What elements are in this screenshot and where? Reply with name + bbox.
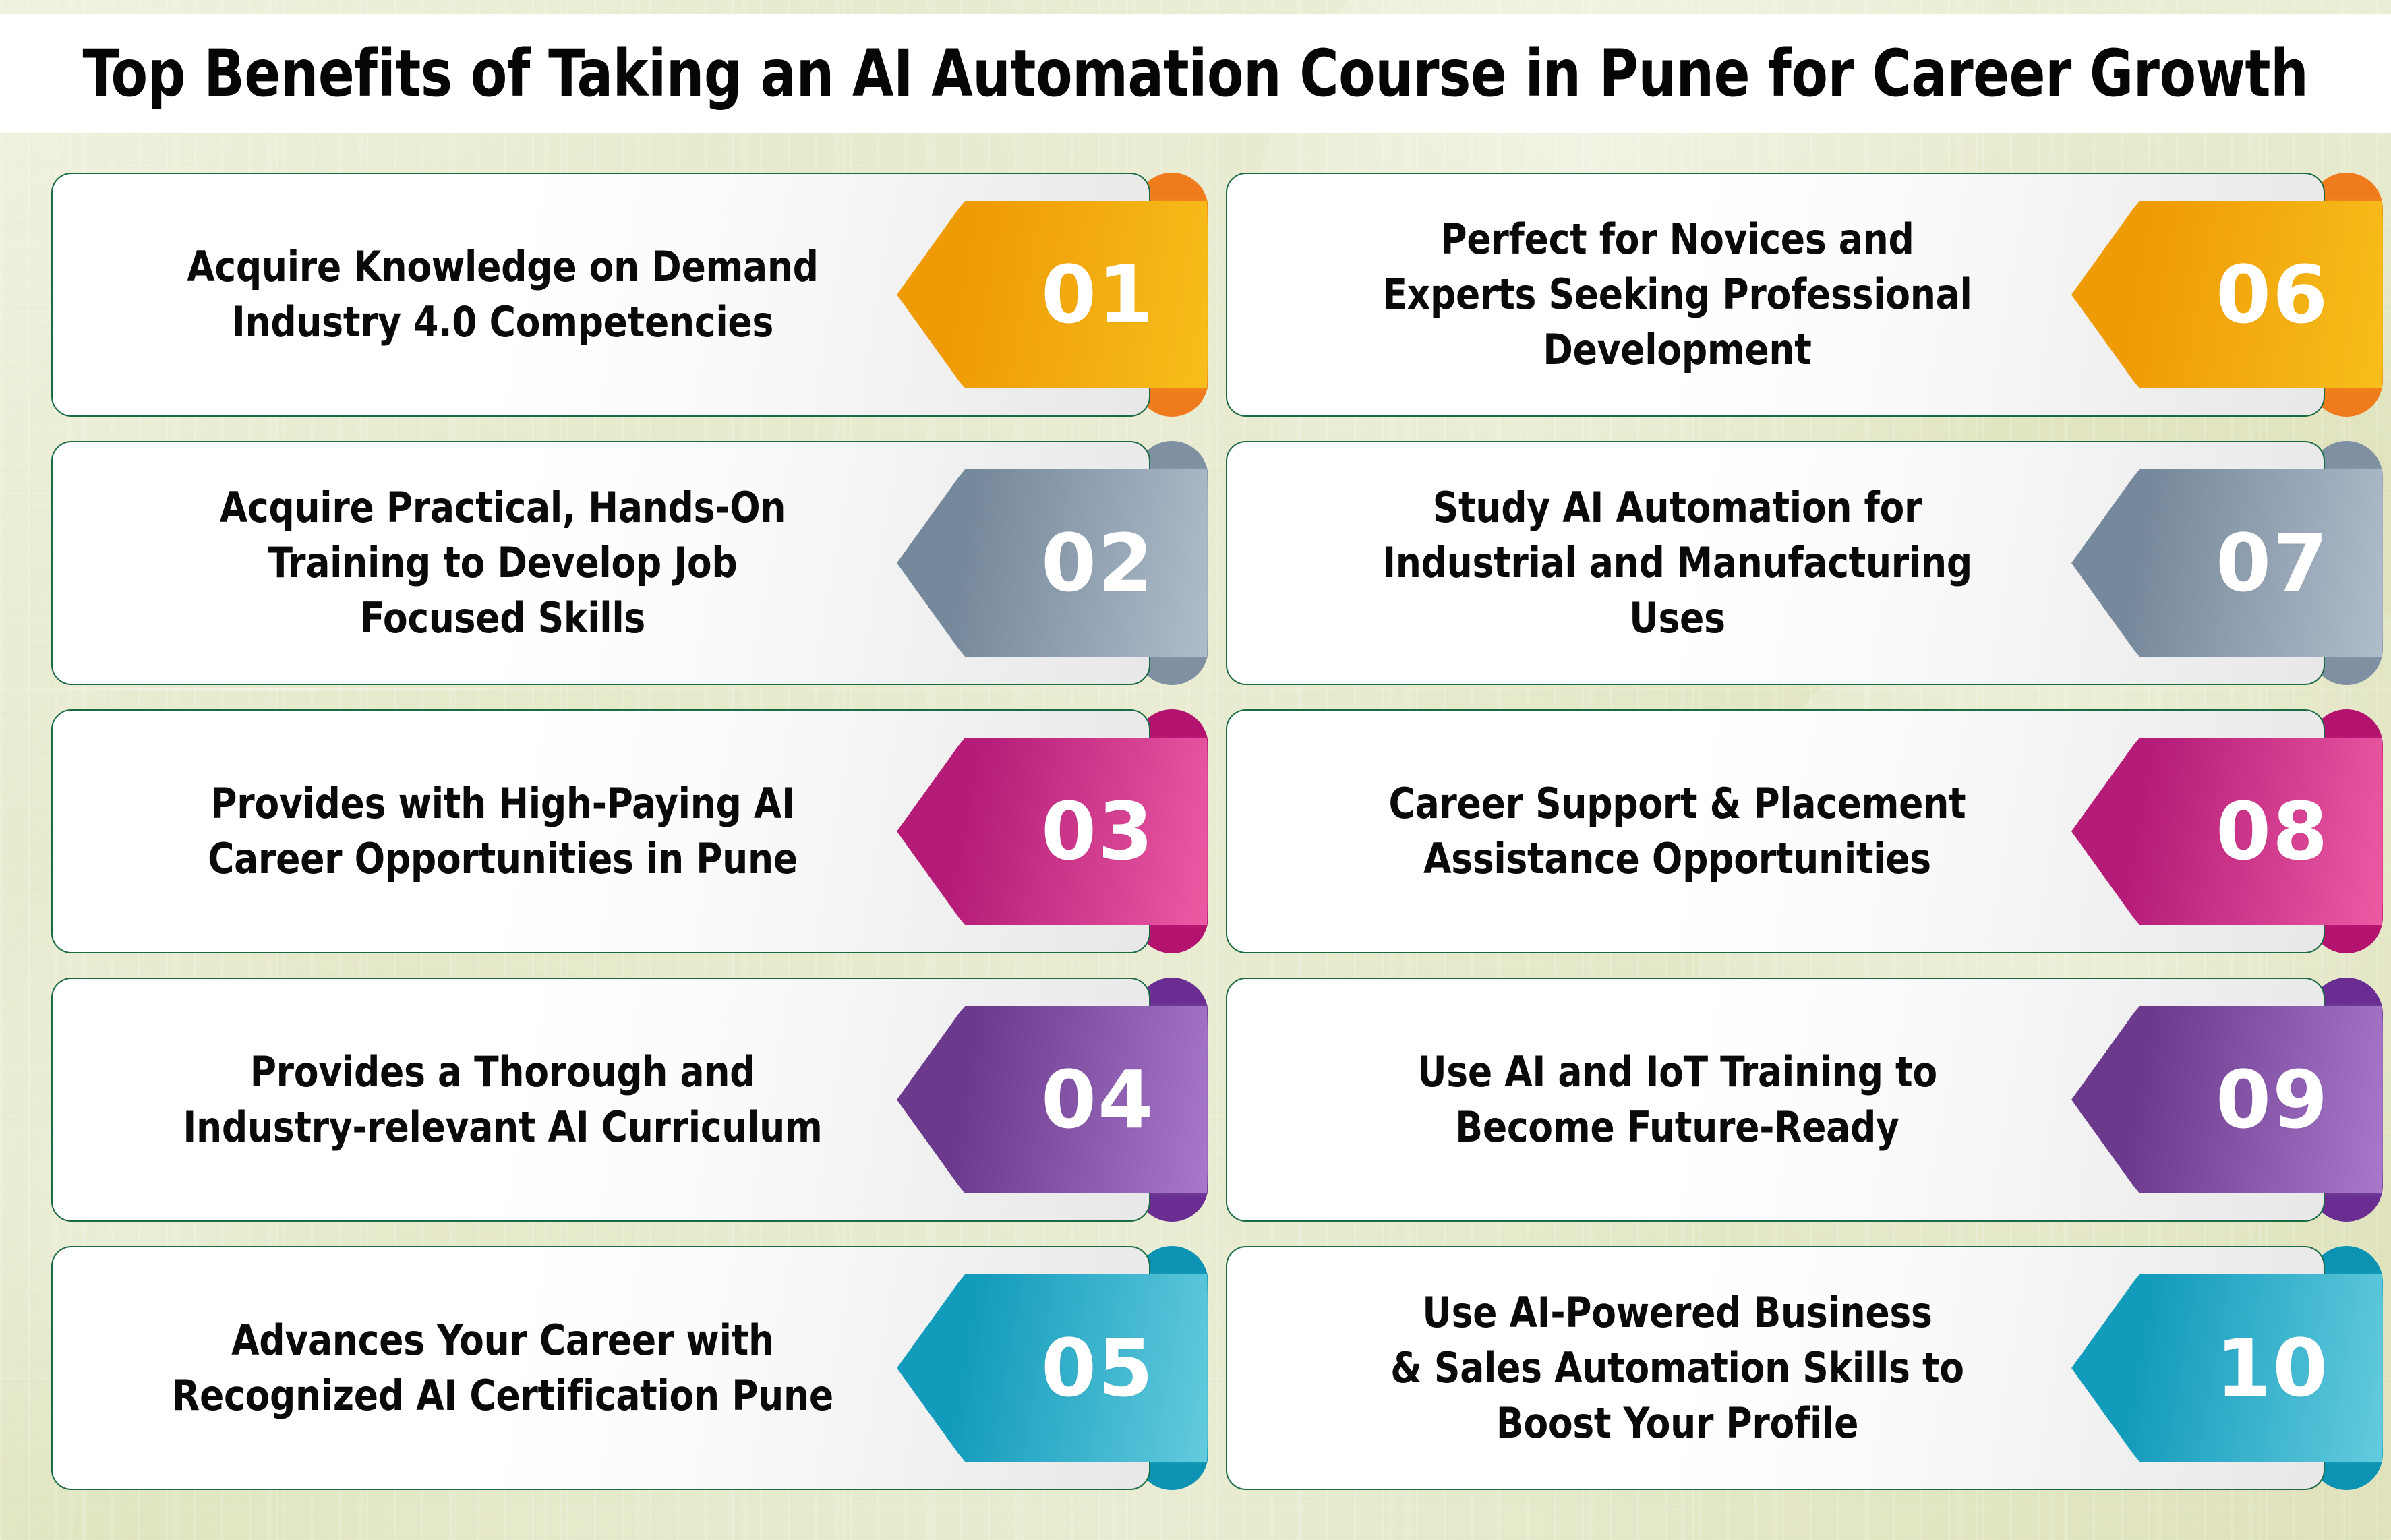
benefit-text: Provides a Thorough and Industry-relevan… [70,1044,918,1155]
page-title-emphasis: AI Automation Course [852,36,1506,111]
page-title-suffix: in Pune for Career Growth [1507,36,2309,111]
benefit-number: 05 [1041,1328,1154,1408]
benefit-text: Perfect for Novices and Experts Seeking … [1245,212,2093,377]
benefits-column-left: Acquire Knowledge on Demand Industry 4.0… [51,173,1179,1490]
benefit-card[interactable]: Acquire Knowledge on Demand Industry 4.0… [51,173,1179,417]
benefit-text: Acquire Practical, Hands-On Training to … [70,480,918,645]
benefit-card[interactable]: Provides a Thorough and Industry-relevan… [51,978,1179,1222]
benefit-text: Use AI and IoT Training to Become Future… [1245,1044,2093,1155]
benefit-text: Provides with High-Paying AI Career Oppo… [70,776,918,887]
benefit-card[interactable]: Provides with High-Paying AI Career Oppo… [51,709,1179,953]
benefit-number: 08 [2216,792,2329,871]
benefit-text: Career Support & Placement Assistance Op… [1245,776,2093,887]
benefit-text: Advances Your Career with Recognized AI … [70,1313,918,1423]
benefit-card[interactable]: Use AI and IoT Training to Become Future… [1226,978,2353,1222]
page-title-prefix: Top Benefits of Taking an [83,36,852,111]
benefit-card[interactable]: Career Support & Placement Assistance Op… [1226,709,2353,953]
benefit-number: 02 [1041,523,1154,603]
benefit-card[interactable]: Acquire Practical, Hands-On Training to … [51,441,1179,685]
benefit-number: 09 [2216,1060,2329,1139]
benefit-number: 03 [1041,792,1154,871]
benefit-card[interactable]: Advances Your Career with Recognized AI … [51,1246,1179,1490]
page-title: Top Benefits of Taking an AI Automation … [83,36,2309,111]
benefit-number: 01 [1041,255,1154,334]
benefits-board: Acquire Knowledge on Demand Industry 4.0… [0,135,2391,1540]
benefit-card[interactable]: Use AI-Powered Business & Sales Automati… [1226,1246,2353,1490]
title-banner: Top Benefits of Taking an AI Automation … [0,14,2391,133]
benefit-card[interactable]: Study AI Automation for Industrial and M… [1226,441,2353,685]
benefits-column-right: Perfect for Novices and Experts Seeking … [1226,173,2353,1490]
benefit-number: 06 [2216,255,2329,334]
benefit-number: 10 [2216,1328,2329,1408]
benefit-number: 07 [2216,523,2329,603]
benefit-text: Use AI-Powered Business & Sales Automati… [1245,1285,2093,1450]
benefit-text: Acquire Knowledge on Demand Industry 4.0… [70,239,918,350]
benefit-text: Study AI Automation for Industrial and M… [1245,480,2093,645]
benefit-card[interactable]: Perfect for Novices and Experts Seeking … [1226,173,2353,417]
benefit-number: 04 [1041,1060,1154,1139]
